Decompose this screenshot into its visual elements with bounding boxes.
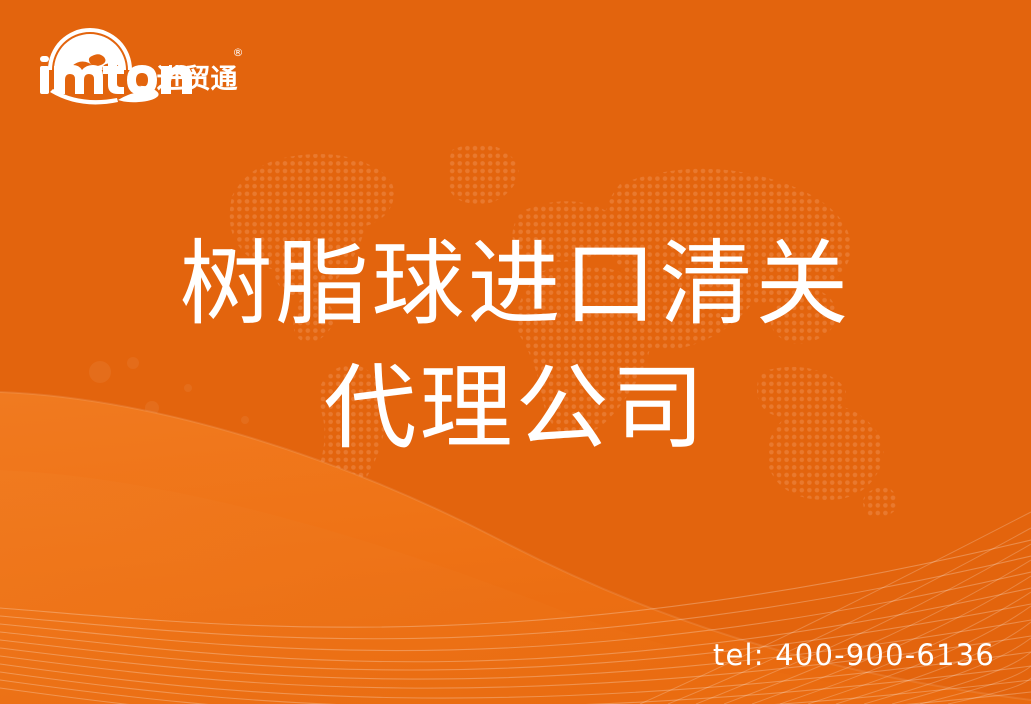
page-title: 树脂球进口清关 代理公司: [0, 222, 1031, 470]
phone-text: tel: 400-900-6136: [713, 638, 995, 672]
headline-line-1: 树脂球进口清关: [0, 222, 1031, 346]
promo-banner: 进贸通 ® 树脂球进口清关 代理公司 tel: 400-900-6136: [0, 0, 1031, 704]
contact-phone[interactable]: tel: 400-900-6136: [713, 638, 995, 672]
trademark-icon: ®: [233, 46, 244, 59]
imton-logo[interactable]: 进贸通 ®: [34, 26, 246, 106]
headline-line-2: 代理公司: [0, 346, 1031, 470]
logo-chinese-name: 进贸通: [157, 64, 238, 95]
